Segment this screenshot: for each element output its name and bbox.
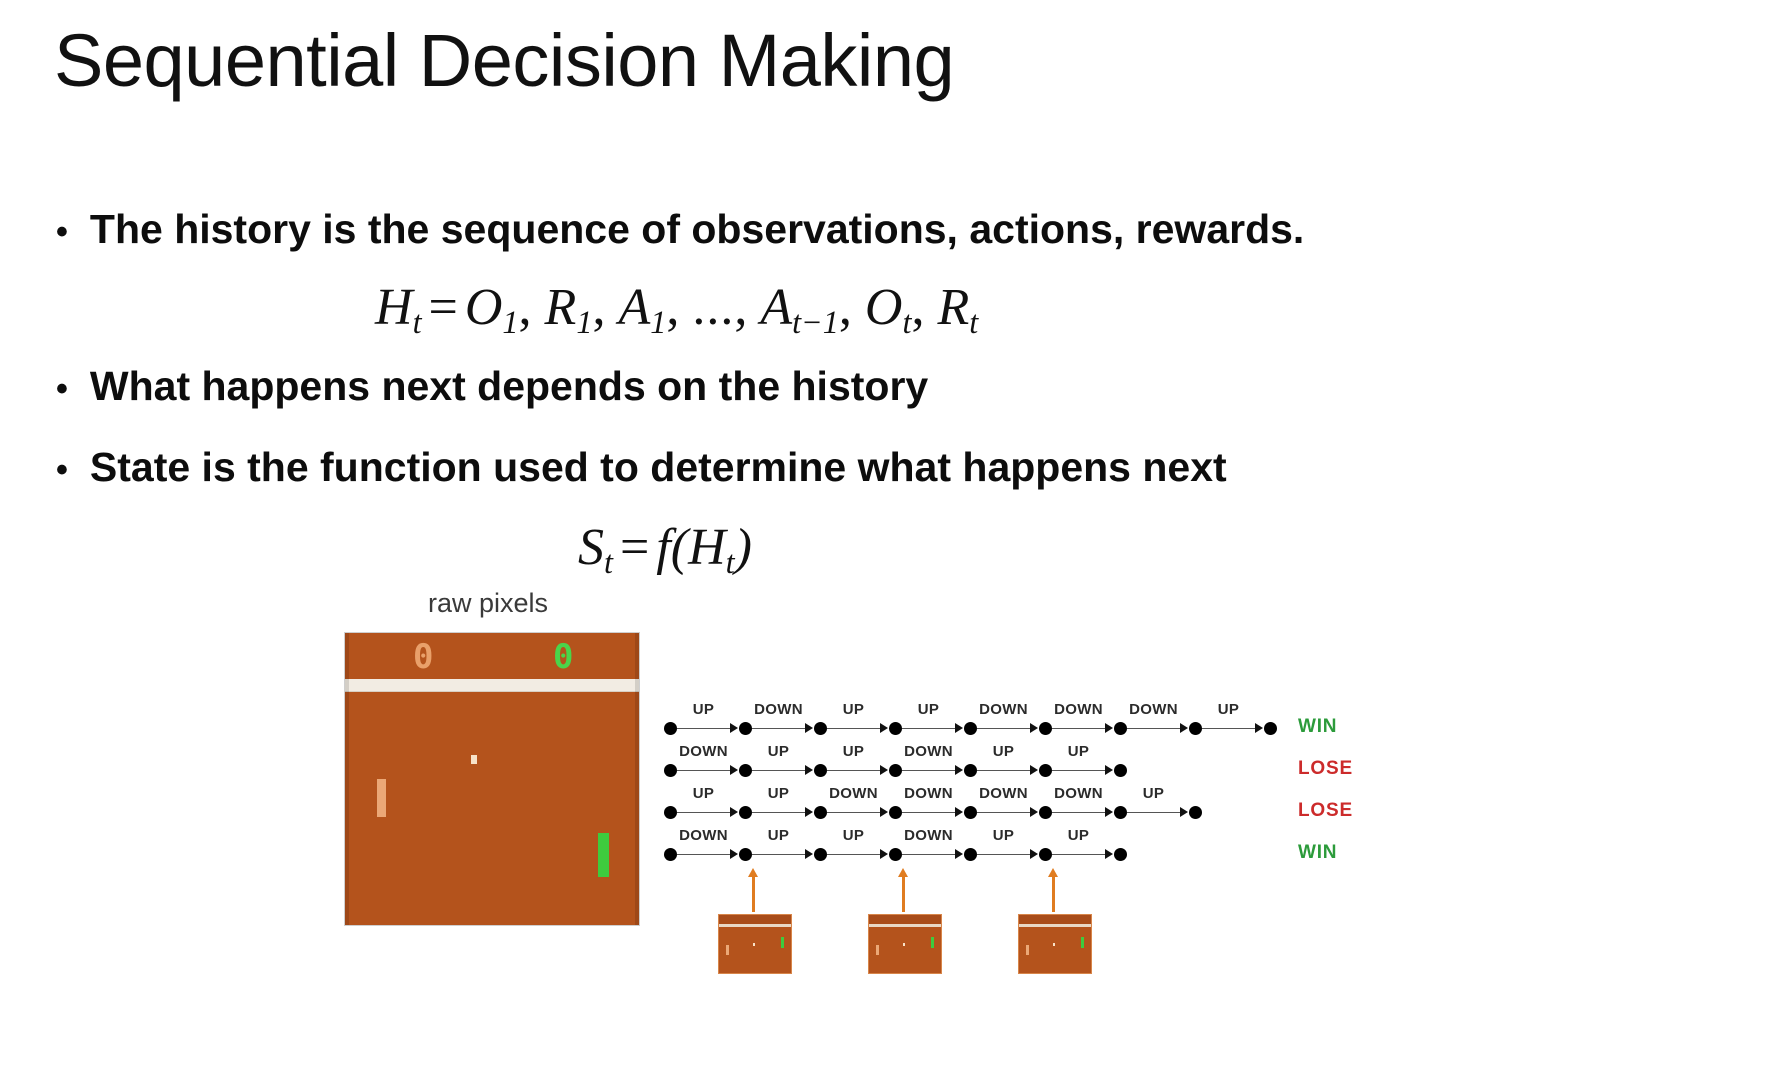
action-label-up: UP xyxy=(693,785,714,802)
sequence-node xyxy=(739,722,752,735)
action-label-up: UP xyxy=(768,827,789,844)
sequence-edge xyxy=(752,770,806,771)
sequence-arrowhead xyxy=(1105,765,1113,775)
sequence-arrowhead xyxy=(1105,849,1113,859)
equation-term: R xyxy=(545,279,577,336)
sequence-edge xyxy=(677,854,731,855)
action-label-up: UP xyxy=(1068,743,1089,760)
action-label-up: UP xyxy=(1068,827,1089,844)
sequence-node xyxy=(964,764,977,777)
sequence-node xyxy=(889,722,902,735)
sequence-arrowhead xyxy=(1180,723,1188,733)
equation-term: A xyxy=(760,279,792,336)
action-label-up: UP xyxy=(843,827,864,844)
sequence-arrowhead xyxy=(880,849,888,859)
equation-ellipsis: ... xyxy=(692,279,734,336)
pong-observation-thumbnail xyxy=(718,914,792,974)
action-label-down: DOWN xyxy=(904,785,953,802)
sequence-arrowhead xyxy=(1030,765,1038,775)
sequence-arrowhead xyxy=(1030,723,1038,733)
action-label-down: DOWN xyxy=(754,701,803,718)
sequence-node xyxy=(964,806,977,819)
observation-arrow-up-icon xyxy=(1052,876,1055,912)
action-label-up: UP xyxy=(993,827,1014,844)
action-label-down: DOWN xyxy=(979,701,1028,718)
sequence-arrowhead xyxy=(955,765,963,775)
sequence-edge xyxy=(827,854,881,855)
sequence-node xyxy=(1189,722,1202,735)
sequence-edge xyxy=(977,728,1031,729)
sequence-row: UPDOWNUPUPDOWNDOWNDOWNUPWIN xyxy=(664,700,1364,742)
sequence-arrowhead xyxy=(1030,849,1038,859)
thumb-divider xyxy=(1019,924,1091,927)
sequence-edge xyxy=(752,812,806,813)
thumb-score-band xyxy=(1019,915,1091,924)
sequence-node xyxy=(889,848,902,861)
equation-lhs: H xyxy=(375,279,413,336)
sequence-node xyxy=(1264,722,1277,735)
sequence-edge xyxy=(1052,854,1106,855)
sequence-node xyxy=(739,806,752,819)
sequence-arrowhead xyxy=(1105,807,1113,817)
action-label-up: UP xyxy=(843,743,864,760)
action-label-up: UP xyxy=(693,701,714,718)
thumb-divider xyxy=(869,924,941,927)
action-label-down: DOWN xyxy=(679,743,728,760)
pong-edge-left xyxy=(345,633,349,925)
thumb-paddle-right xyxy=(931,937,934,948)
sequence-arrowhead xyxy=(805,807,813,817)
sequence-edge xyxy=(1052,770,1106,771)
sequence-node xyxy=(1039,806,1052,819)
bullet-item-history: • The history is the sequence of observa… xyxy=(56,207,1304,252)
equation-argument: H xyxy=(688,519,726,576)
sequence-edge xyxy=(827,728,881,729)
sequence-arrowhead xyxy=(730,849,738,859)
thumb-paddle-left xyxy=(1026,945,1029,955)
thumb-divider xyxy=(719,924,791,927)
sequence-edge xyxy=(1127,812,1181,813)
pong-paddle-left xyxy=(377,779,386,817)
action-label-up: UP xyxy=(768,743,789,760)
sequence-arrowhead xyxy=(730,807,738,817)
thumb-paddle-right xyxy=(781,937,784,948)
sequence-node xyxy=(1114,764,1127,777)
observation-arrow-up-icon xyxy=(902,876,905,912)
sequence-node xyxy=(814,722,827,735)
equation-lhs-subscript: t xyxy=(604,544,613,580)
sequence-arrowhead xyxy=(730,765,738,775)
sequence-row: DOWNUPUPDOWNUPUPLOSE xyxy=(664,742,1364,784)
action-label-up: UP xyxy=(1218,701,1239,718)
sequence-arrowhead xyxy=(1255,723,1263,733)
sequence-node xyxy=(664,764,677,777)
sequence-node xyxy=(739,848,752,861)
action-label-down: DOWN xyxy=(1129,701,1178,718)
sequence-edge xyxy=(752,854,806,855)
equation-term-subscript: t xyxy=(969,304,978,340)
thumb-ball xyxy=(903,943,905,946)
sequence-node xyxy=(664,806,677,819)
outcome-label-win: WIN xyxy=(1298,842,1337,864)
sequence-edge xyxy=(902,854,956,855)
bullet-marker: • xyxy=(56,372,68,406)
sequence-node xyxy=(1039,764,1052,777)
sequence-edge xyxy=(827,812,881,813)
thumb-paddle-left xyxy=(876,945,879,955)
pong-score-band xyxy=(345,633,639,679)
state-equation: St=f(Ht) xyxy=(578,518,752,581)
thumb-ball xyxy=(1053,943,1055,946)
sequence-arrowhead xyxy=(880,723,888,733)
thumb-paddle-left xyxy=(726,945,729,955)
sequence-arrowhead xyxy=(955,849,963,859)
sequence-node xyxy=(964,722,977,735)
action-label-down: DOWN xyxy=(829,785,878,802)
sequence-edge xyxy=(1202,728,1256,729)
action-label-up: UP xyxy=(1143,785,1164,802)
equation-term-subscript: t−1 xyxy=(792,304,839,340)
equation-operator: = xyxy=(613,519,656,576)
equation-paren-close: ) xyxy=(735,519,752,576)
pong-game-screenshot: 0 0 xyxy=(344,632,640,926)
thumb-ball xyxy=(753,943,755,946)
sequence-arrowhead xyxy=(880,807,888,817)
thumb-score-band xyxy=(719,915,791,924)
equation-term: A xyxy=(618,279,650,336)
sequence-arrowhead xyxy=(1030,807,1038,817)
bullet-item-state-function: • State is the function used to determin… xyxy=(56,445,1227,490)
pong-divider-bar xyxy=(345,679,639,691)
equation-argument-subscript: t xyxy=(726,544,735,580)
outcome-label-lose: LOSE xyxy=(1298,800,1353,822)
outcome-label-win: WIN xyxy=(1298,716,1337,738)
action-label-down: DOWN xyxy=(904,743,953,760)
page-title: Sequential Decision Making xyxy=(54,22,954,100)
sequence-edge xyxy=(1052,812,1106,813)
sequence-node xyxy=(664,722,677,735)
pong-ball xyxy=(471,755,477,764)
sequence-arrowhead xyxy=(805,849,813,859)
equation-term: O xyxy=(465,279,503,336)
sequence-node xyxy=(889,806,902,819)
sequence-node xyxy=(1114,848,1127,861)
sequence-edge xyxy=(1052,728,1106,729)
outcome-label-lose: LOSE xyxy=(1298,758,1353,780)
equation-operator: = xyxy=(422,279,465,336)
sequence-node xyxy=(814,848,827,861)
sequence-node xyxy=(1114,722,1127,735)
sequence-row: DOWNUPUPDOWNUPUPWIN xyxy=(664,826,1364,868)
sequence-node xyxy=(1189,806,1202,819)
sequence-edge xyxy=(977,854,1031,855)
bullet-text: State is the function used to determine … xyxy=(90,445,1227,490)
equation-lhs: S xyxy=(578,519,604,576)
sequence-row: UPUPDOWNDOWNDOWNDOWNUPLOSE xyxy=(664,784,1364,826)
sequence-node xyxy=(814,806,827,819)
equation-function: f xyxy=(656,519,670,576)
pong-score-left: 0 xyxy=(413,637,431,677)
sequence-arrowhead xyxy=(805,765,813,775)
sequence-edge xyxy=(902,812,956,813)
bullet-item-next-depends: • What happens next depends on the histo… xyxy=(56,364,928,409)
history-equation: Ht=O1, R1, A1, ..., At−1, Ot, Rt xyxy=(375,278,978,341)
sequence-arrowhead xyxy=(805,723,813,733)
sequence-node xyxy=(739,764,752,777)
sequence-edge xyxy=(827,770,881,771)
sequence-arrowhead xyxy=(730,723,738,733)
sequence-node xyxy=(664,848,677,861)
equation-paren-open: ( xyxy=(671,519,688,576)
action-label-up: UP xyxy=(918,701,939,718)
thumb-paddle-right xyxy=(1081,937,1084,948)
sequence-arrowhead xyxy=(1105,723,1113,733)
pong-paddle-right xyxy=(598,833,609,877)
sequence-arrowhead xyxy=(880,765,888,775)
pong-observation-thumbnail xyxy=(1018,914,1092,974)
action-label-down: DOWN xyxy=(1054,785,1103,802)
action-label-up: UP xyxy=(843,701,864,718)
arrow-head-icon xyxy=(748,868,758,877)
action-label-down: DOWN xyxy=(979,785,1028,802)
action-sequence-diagram: UPDOWNUPUPDOWNDOWNDOWNUPWINDOWNUPUPDOWNU… xyxy=(664,700,1364,868)
thumb-score-band xyxy=(869,915,941,924)
action-label-down: DOWN xyxy=(679,827,728,844)
sequence-arrowhead xyxy=(1180,807,1188,817)
equation-lhs-subscript: t xyxy=(413,304,422,340)
action-label-up: UP xyxy=(993,743,1014,760)
sequence-edge xyxy=(1127,728,1181,729)
action-label-down: DOWN xyxy=(904,827,953,844)
equation-term-subscript: 1 xyxy=(502,304,518,340)
bullet-text: The history is the sequence of observati… xyxy=(90,207,1304,252)
pong-edge-right xyxy=(635,633,639,925)
pong-score-right: 0 xyxy=(553,637,571,677)
sequence-edge xyxy=(677,728,731,729)
equation-term-subscript: 1 xyxy=(650,304,666,340)
arrow-head-icon xyxy=(1048,868,1058,877)
sequence-node xyxy=(1114,806,1127,819)
arrow-head-icon xyxy=(898,868,908,877)
observation-arrow-up-icon xyxy=(752,876,755,912)
bullet-text: What happens next depends on the history xyxy=(90,364,928,409)
action-label-down: DOWN xyxy=(1054,701,1103,718)
sequence-edge xyxy=(977,812,1031,813)
sequence-node xyxy=(1039,848,1052,861)
raw-pixels-caption: raw pixels xyxy=(428,588,548,619)
sequence-edge xyxy=(677,812,731,813)
equation-term-subscript: 1 xyxy=(576,304,592,340)
sequence-arrowhead xyxy=(955,807,963,817)
sequence-edge xyxy=(902,728,956,729)
sequence-edge xyxy=(902,770,956,771)
sequence-edge xyxy=(677,770,731,771)
bullet-marker: • xyxy=(56,215,68,249)
equation-term: R xyxy=(937,279,969,336)
sequence-node xyxy=(814,764,827,777)
bullet-marker: • xyxy=(56,453,68,487)
action-label-up: UP xyxy=(768,785,789,802)
sequence-arrowhead xyxy=(955,723,963,733)
sequence-node xyxy=(1039,722,1052,735)
sequence-node xyxy=(889,764,902,777)
pong-observation-thumbnail xyxy=(868,914,942,974)
sequence-edge xyxy=(752,728,806,729)
equation-term: O xyxy=(865,279,903,336)
sequence-edge xyxy=(977,770,1031,771)
sequence-node xyxy=(964,848,977,861)
